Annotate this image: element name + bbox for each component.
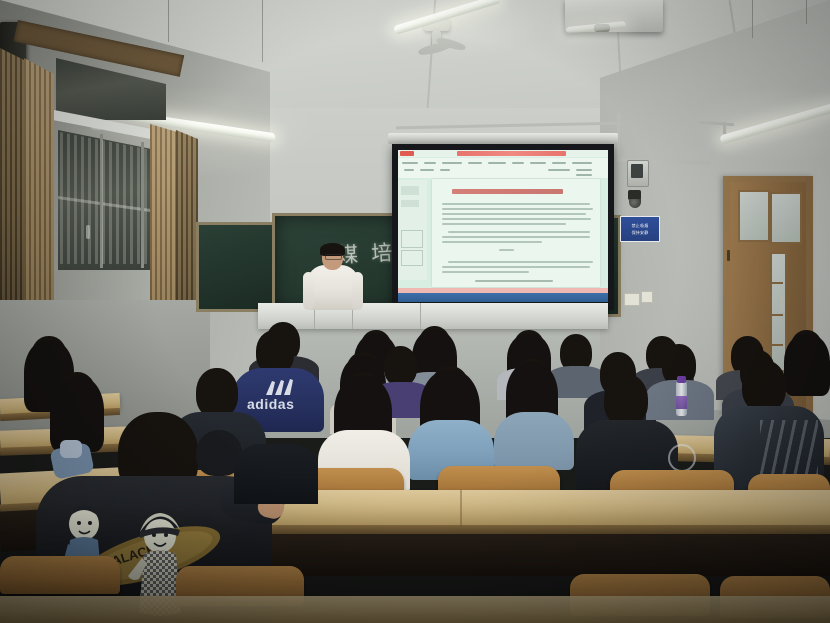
- adidas-wordmark: adidas: [247, 396, 294, 412]
- water-bottle-label: [676, 396, 687, 409]
- document-title-line: [452, 189, 563, 194]
- water-bottle-cap: [677, 376, 686, 383]
- chair-back-front[interactable]: [0, 556, 120, 594]
- document-navigation-pane[interactable]: [398, 180, 427, 280]
- desk-row-foreground: [0, 596, 830, 623]
- screen-roller-housing: [388, 133, 618, 144]
- document-signature-line: [475, 280, 552, 282]
- podium-seam: [420, 303, 421, 329]
- presenter-glasses: [325, 254, 342, 260]
- door-panel-divider: [770, 314, 783, 316]
- presenter-arm: [352, 272, 363, 310]
- app-file-tab: [400, 151, 414, 156]
- door-panel-divider: [770, 344, 783, 346]
- light-suspension-rod: [752, 0, 753, 38]
- wall-bracket: [723, 122, 726, 134]
- curtain-left-edge: [0, 48, 28, 338]
- door-glass-panel: [738, 190, 770, 242]
- sign-line-2: 保持安静: [632, 230, 649, 235]
- document-page: [432, 179, 600, 287]
- door-hinge: [727, 250, 730, 261]
- os-taskbar[interactable]: [398, 293, 608, 302]
- wall-switch-plate[interactable]: [624, 293, 640, 306]
- adidas-trefoil-icon: [262, 378, 296, 396]
- light-suspension-rod: [262, 0, 263, 62]
- chalkboard-left-panel: [196, 222, 277, 312]
- door-glass-panel: [770, 192, 802, 244]
- classroom-photo: 煤 培 ٦: [0, 0, 830, 623]
- door-panel-divider: [770, 282, 783, 284]
- hand-on-desk: [60, 440, 82, 458]
- desk-row-front-mid: [248, 490, 830, 528]
- app-ribbon-highlight: [457, 151, 566, 156]
- jacket-print-graphic: [760, 420, 818, 482]
- door-handle[interactable]: [780, 296, 785, 312]
- light-suspension-rod: [806, 0, 807, 24]
- sign-line-1: 禁止吸烟: [632, 223, 649, 228]
- app-toolbar: [398, 158, 608, 178]
- wall-outlet[interactable]: [641, 291, 653, 303]
- wall-notice-sign: 禁止吸烟 保持安静: [620, 216, 660, 242]
- desk-seam: [460, 490, 462, 528]
- shirt-circle-graphic: [668, 444, 696, 472]
- presenter-arm: [303, 272, 314, 310]
- desk-underside: [248, 534, 830, 576]
- light-suspension-rod: [168, 0, 169, 42]
- wall-control-display: [631, 164, 643, 178]
- projection-screen: [392, 144, 614, 310]
- projected-image: [398, 150, 608, 302]
